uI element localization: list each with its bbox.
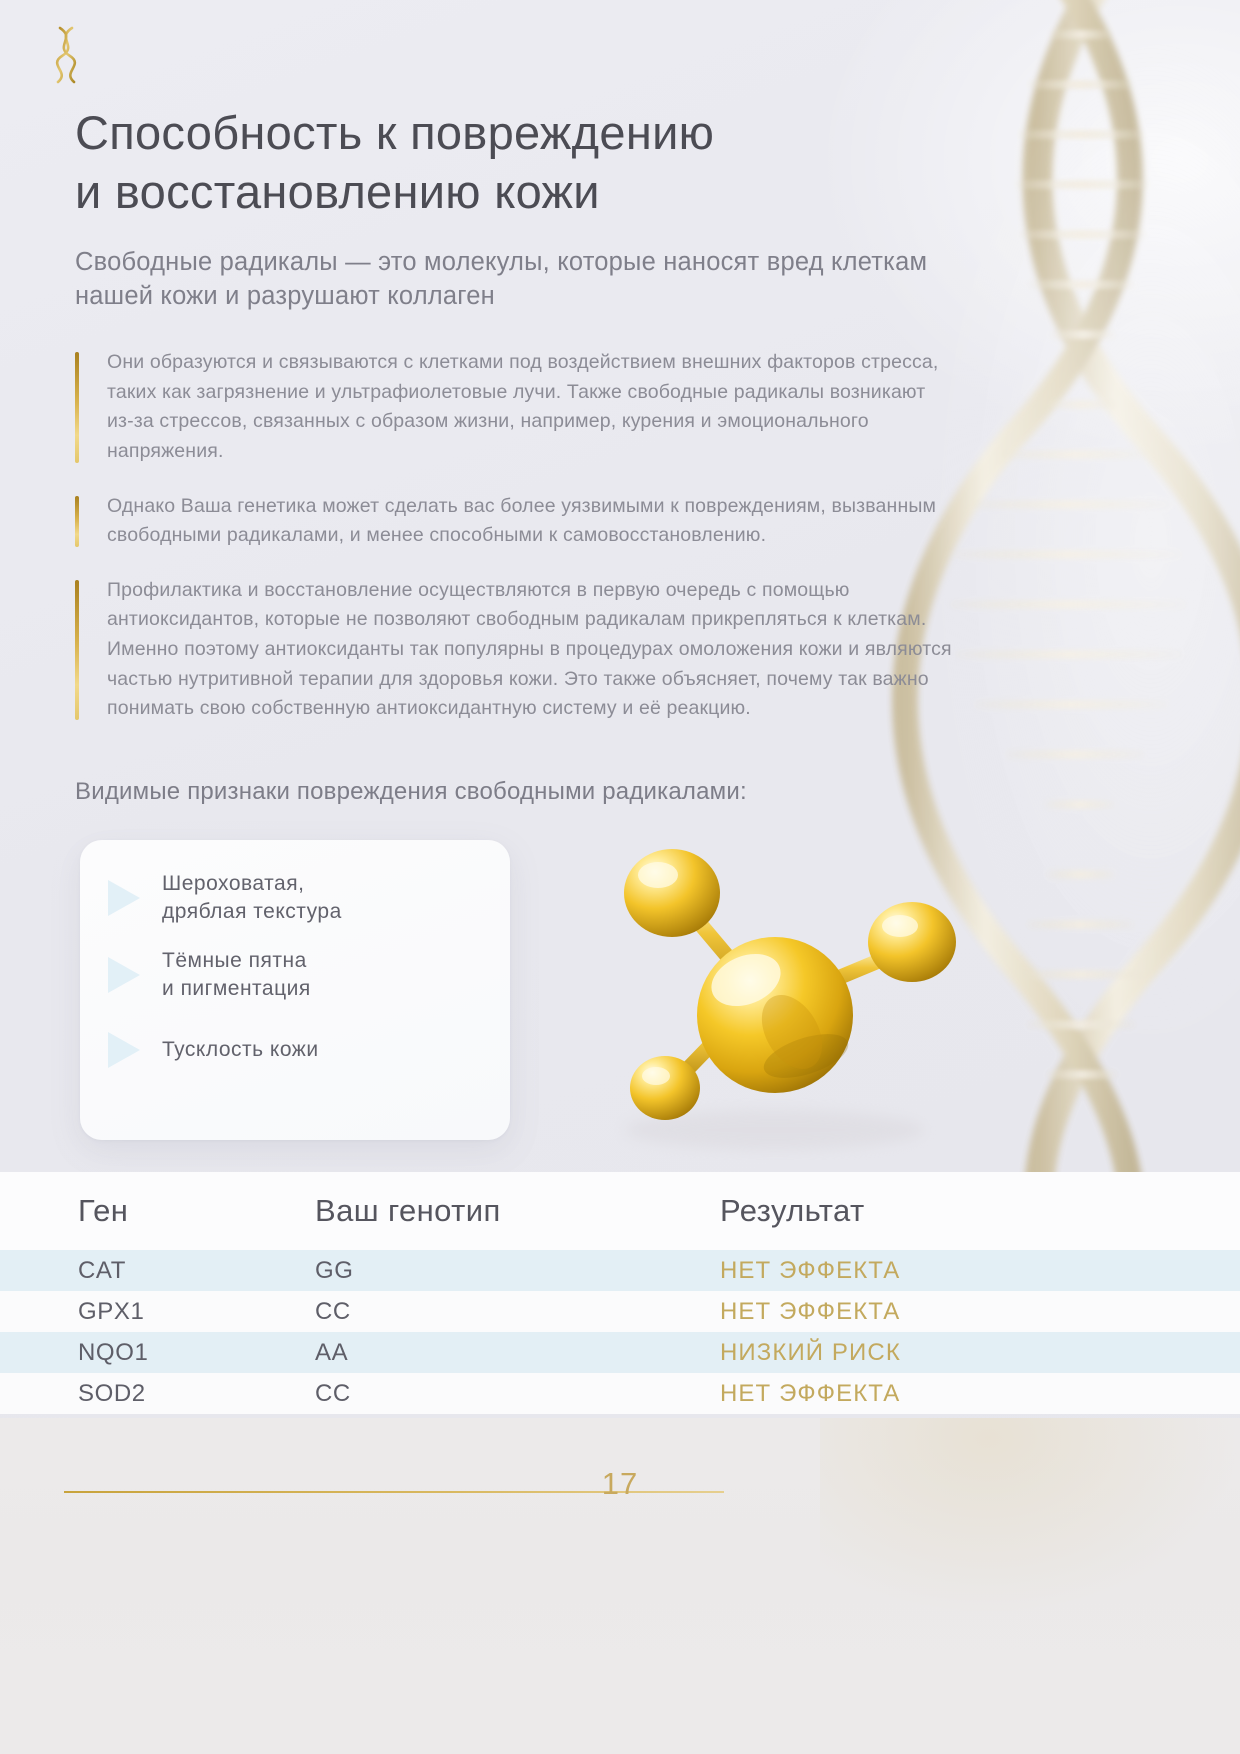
list-item: Тёмные пятна и пигментация	[108, 947, 488, 1002]
page-title: Способность к повреждению и восстановлен…	[75, 104, 955, 222]
list-item-label: Тёмные пятна и пигментация	[162, 947, 311, 1002]
page-canvas: Способность к повреждению и восстановлен…	[0, 0, 1240, 1754]
footer-decoration	[820, 1418, 1240, 1618]
table-header-row: Ген Ваш генотип Результат	[0, 1172, 1240, 1250]
cell-result: НИЗКИЙ РИСК	[720, 1339, 1240, 1367]
cell-genotype: CC	[315, 1380, 720, 1408]
quote-block: Однако Ваша генетика может сделать вас б…	[75, 492, 955, 551]
list-item: Тусклость кожи	[108, 1025, 488, 1075]
gold-molecule-render	[560, 820, 1030, 1160]
cell-gene: SOD2	[0, 1380, 315, 1408]
list-item-label: Тусклость кожи	[162, 1036, 319, 1064]
cell-gene: CAT	[0, 1257, 315, 1285]
play-triangle-icon	[108, 1032, 140, 1068]
lead-paragraph: Свободные радикалы — это молекулы, котор…	[75, 246, 955, 313]
page-title-line-2: и восстановлению кожи	[75, 165, 600, 218]
list-item-label: Шероховатая, дряблая текстура	[162, 870, 342, 925]
page-title-line-1: Способность к повреждению	[75, 106, 714, 159]
column-header-gene: Ген	[0, 1193, 315, 1229]
table-row: SOD2 CC НЕТ ЭФФЕКТА	[0, 1373, 1240, 1414]
cell-gene: GPX1	[0, 1298, 315, 1326]
cell-result: НЕТ ЭФФЕКТА	[720, 1257, 1240, 1285]
cell-genotype: AA	[315, 1339, 720, 1367]
list-item: Шероховатая, дряблая текстура	[108, 870, 488, 925]
column-header-genotype: Ваш генотип	[315, 1193, 720, 1229]
dna-helix-logo	[44, 24, 90, 86]
play-triangle-icon	[108, 957, 140, 993]
page-number: 17	[0, 1466, 1240, 1502]
table-row: NQO1 AA НИЗКИЙ РИСК	[0, 1332, 1240, 1373]
quote-block: Профилактика и восстановление осуществля…	[75, 576, 955, 724]
cell-result: НЕТ ЭФФЕКТА	[720, 1298, 1240, 1326]
visible-signs-card: Шероховатая, дряблая текстура Тёмные пят…	[80, 840, 510, 1140]
cell-gene: NQO1	[0, 1339, 315, 1367]
column-header-result: Результат	[720, 1193, 1240, 1229]
genotype-table: Ген Ваш генотип Результат CAT GG НЕТ ЭФФ…	[0, 1172, 1240, 1414]
table-row: GPX1 CC НЕТ ЭФФЕКТА	[0, 1291, 1240, 1332]
cell-genotype: GG	[315, 1257, 720, 1285]
signs-heading: Видимые признаки повреждения свободными …	[75, 778, 975, 806]
cell-result: НЕТ ЭФФЕКТА	[720, 1380, 1240, 1408]
signs-list: Шероховатая, дряблая текстура Тёмные пят…	[108, 870, 488, 1097]
cell-genotype: CC	[315, 1298, 720, 1326]
quote-block: Они образуются и связываются с клетками …	[75, 348, 955, 467]
table-row: CAT GG НЕТ ЭФФЕКТА	[0, 1250, 1240, 1291]
quote-block-list: Они образуются и связываются с клетками …	[75, 348, 955, 749]
play-triangle-icon	[108, 880, 140, 916]
